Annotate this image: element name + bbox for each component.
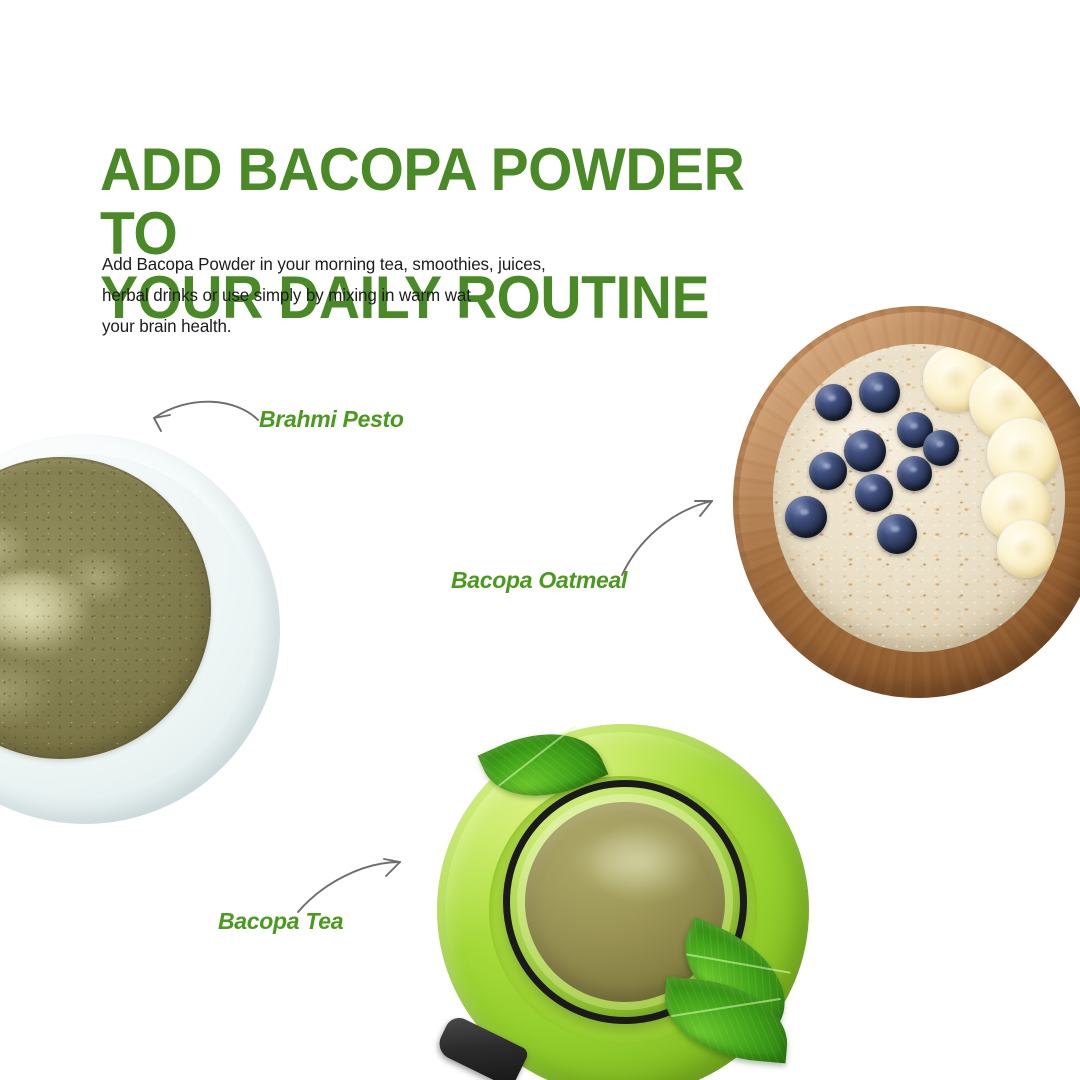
blueberry — [815, 384, 852, 421]
blueberry — [877, 514, 917, 554]
callout-label-brahmi-pesto: Brahmi Pesto — [259, 406, 404, 433]
callout-label-bacopa-oatmeal: Bacopa Oatmeal — [451, 567, 627, 594]
blueberry — [923, 430, 959, 466]
callout-arrow-brahmi-pesto-icon — [140, 390, 270, 440]
blueberry — [844, 430, 886, 472]
oatmeal-porridge — [773, 344, 1065, 652]
bacopa-tea-cup-photo — [437, 724, 809, 1080]
blueberry — [809, 452, 847, 490]
callout-label-bacopa-tea: Bacopa Tea — [218, 908, 343, 935]
bacopa-oatmeal-bowl-photo — [733, 306, 1080, 698]
callout-arrow-bacopa-oatmeal-icon — [608, 485, 723, 580]
promo-graphic: ADD BACOPA POWDER TO YOUR DAILY ROUTINE … — [0, 0, 1080, 1080]
blueberry — [859, 372, 900, 413]
blueberry — [785, 496, 827, 538]
blueberry — [855, 474, 893, 512]
brahmi-pesto-bowl-photo — [0, 434, 280, 824]
blueberry — [897, 456, 932, 491]
banana-slice — [997, 520, 1055, 578]
page-subtitle: Add Bacopa Powder in your morning tea, s… — [102, 249, 703, 342]
